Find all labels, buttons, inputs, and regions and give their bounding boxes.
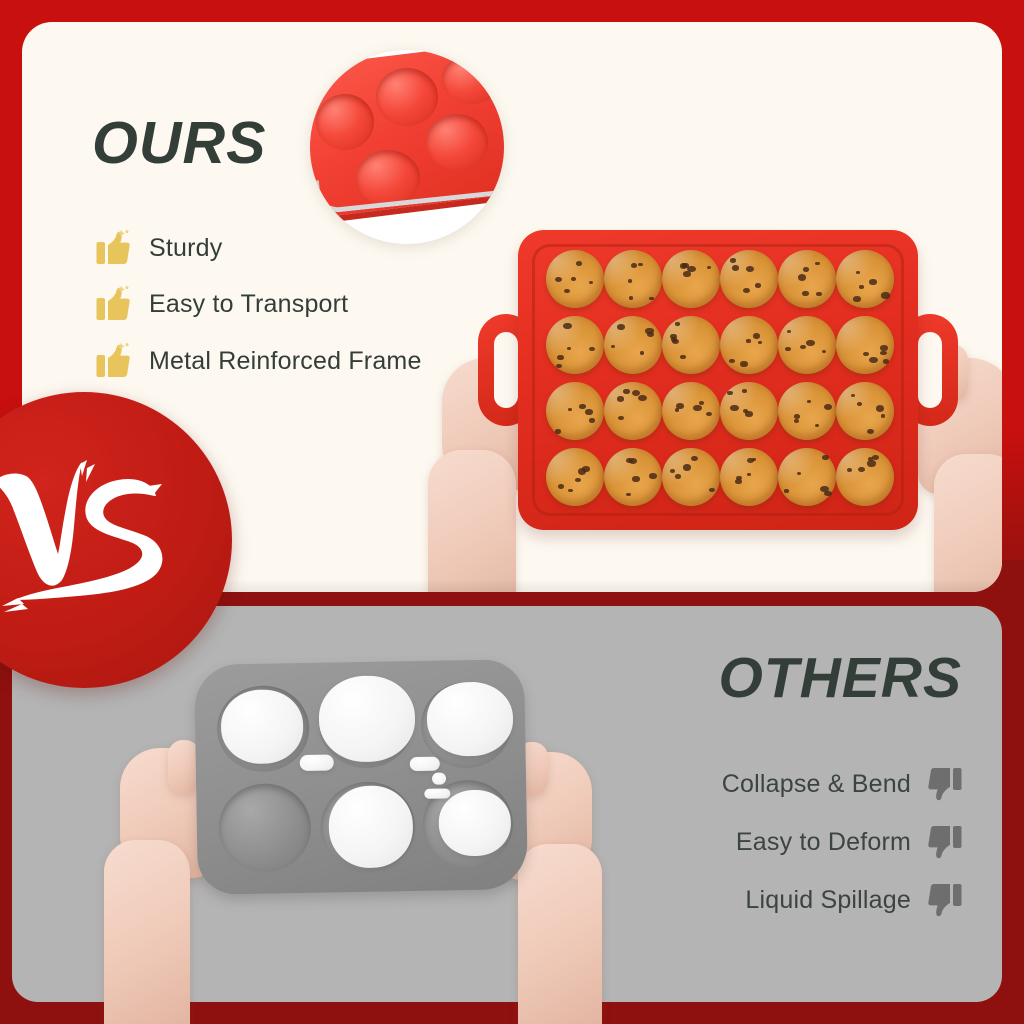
chocolate-chip — [675, 408, 679, 411]
feature-row: Metal Reinforced Frame — [96, 342, 422, 380]
chocolate-chip — [794, 414, 801, 419]
mold-body — [194, 659, 528, 895]
chocolate-chip — [571, 277, 576, 281]
muffin — [720, 382, 778, 440]
red-muffin-tray-photo — [442, 218, 1002, 592]
muffin — [604, 448, 662, 506]
chocolate-chip — [683, 271, 691, 277]
batter-blob — [318, 675, 415, 763]
forearm-left — [428, 450, 516, 592]
forearm-right — [934, 454, 1002, 592]
inset-cup — [376, 68, 438, 126]
chocolate-chip — [880, 351, 887, 356]
chocolate-chip — [758, 341, 762, 344]
chocolate-chip — [693, 405, 702, 411]
chocolate-chip — [746, 266, 754, 272]
chocolate-chip — [881, 292, 890, 299]
chocolate-chip — [822, 350, 827, 354]
feature-label: Metal Reinforced Frame — [149, 347, 422, 376]
chocolate-chip — [851, 394, 855, 397]
chocolate-chip — [867, 460, 876, 467]
chocolate-chip — [872, 455, 879, 461]
chocolate-chip — [618, 416, 624, 421]
muffin — [604, 382, 662, 440]
chocolate-chip — [798, 274, 807, 281]
drawback-label: Collapse & Bend — [722, 770, 911, 799]
chocolate-chip — [631, 263, 638, 268]
chocolate-chip — [753, 333, 761, 339]
chocolate-chip — [556, 364, 562, 369]
batter-spill — [300, 754, 334, 771]
batter-droplet — [432, 773, 446, 785]
chocolate-chip — [803, 267, 809, 272]
muffin — [546, 316, 604, 374]
chocolate-chip — [787, 330, 791, 333]
chocolate-chip — [629, 296, 634, 300]
drawback-row: Easy to Deform — [736, 823, 962, 861]
muffin — [720, 316, 778, 374]
chocolate-chip — [857, 402, 862, 406]
drawback-row: Collapse & Bend — [722, 765, 962, 803]
chocolate-chip — [797, 472, 801, 475]
muffin — [778, 382, 836, 440]
chocolate-chip — [576, 261, 583, 266]
ours-title: OURS — [92, 114, 266, 173]
chocolate-chip — [815, 424, 820, 428]
chocolate-chip — [578, 468, 587, 475]
chocolate-chip — [745, 411, 753, 417]
inset-cup — [442, 54, 500, 104]
chocolate-chip — [847, 468, 852, 472]
batter-blob — [220, 689, 303, 764]
forearm-right-gray — [518, 844, 602, 1024]
batter-blob — [426, 681, 513, 756]
chocolate-chip — [682, 263, 689, 268]
muffin — [836, 316, 894, 374]
chocolate-chip — [729, 359, 735, 363]
thumbs-up-icon — [96, 285, 130, 323]
chocolate-chip — [626, 493, 631, 497]
batter-blob — [438, 789, 511, 856]
mold-cup — [218, 783, 312, 873]
feature-row: Sturdy — [96, 229, 222, 267]
chocolate-chip — [824, 404, 832, 410]
chocolate-chip — [859, 285, 864, 289]
chocolate-chip — [807, 400, 811, 403]
chocolate-chip — [743, 288, 750, 293]
chocolate-chip — [727, 391, 733, 395]
muffin — [546, 250, 604, 308]
drawback-row: Liquid Spillage — [745, 881, 962, 919]
chocolate-chip — [575, 478, 581, 482]
chocolate-chip — [784, 489, 789, 493]
chocolate-chip — [755, 283, 761, 288]
drawback-label: Liquid Spillage — [745, 886, 911, 915]
muffin — [836, 250, 894, 308]
chocolate-chip — [800, 345, 806, 350]
batter-spill — [410, 757, 440, 772]
muffin — [662, 250, 720, 308]
chocolate-chip — [558, 484, 565, 489]
thumbs-up-icon — [96, 342, 130, 380]
chocolate-chip — [675, 322, 680, 326]
chocolate-chip — [683, 464, 691, 470]
chocolate-chip — [563, 323, 572, 329]
feature-label: Easy to Transport — [149, 290, 348, 319]
chocolate-chip — [816, 292, 821, 296]
chocolate-chip — [880, 345, 888, 351]
chocolate-chip — [747, 473, 751, 476]
muffin — [604, 316, 662, 374]
chocolate-chip — [869, 357, 878, 364]
muffin — [836, 382, 894, 440]
chocolate-chip — [706, 412, 712, 417]
thumbs-down-icon — [928, 881, 962, 919]
chocolate-chip — [742, 389, 747, 393]
chocolate-chip — [707, 266, 711, 269]
chocolate-chip — [881, 414, 886, 418]
infographic-canvas: OURS Sturdy Ea — [0, 0, 1024, 1024]
chocolate-chip — [640, 351, 645, 355]
chocolate-chip — [589, 281, 593, 284]
muffin — [720, 250, 778, 308]
chocolate-chip — [709, 488, 715, 492]
chocolate-chip — [638, 263, 643, 267]
chocolate-chip — [730, 258, 736, 263]
chocolate-chip — [883, 359, 889, 364]
thumbs-down-icon — [928, 823, 962, 861]
muffin — [778, 250, 836, 308]
chocolate-chip — [649, 473, 657, 479]
muffin — [836, 448, 894, 506]
chocolate-chip — [853, 296, 861, 302]
chocolate-chip — [568, 489, 573, 493]
chocolate-chip — [740, 361, 748, 367]
chocolate-chip — [822, 455, 829, 460]
inset-cup — [426, 114, 488, 170]
chocolate-chip — [617, 396, 624, 402]
muffin — [662, 316, 720, 374]
muffin — [546, 448, 604, 506]
chocolate-chip — [730, 405, 739, 411]
chocolate-chip — [680, 355, 685, 359]
chocolate-chip — [585, 409, 593, 415]
gray-mold-photo — [120, 640, 590, 1024]
chocolate-chip — [867, 429, 875, 435]
chocolate-chip — [568, 408, 572, 411]
tray-closeup-inset — [310, 50, 504, 244]
muffin — [604, 250, 662, 308]
muffin — [662, 448, 720, 506]
muffin — [778, 448, 836, 506]
drawback-label: Easy to Deform — [736, 828, 911, 857]
chocolate-chip — [869, 279, 877, 285]
chocolate-chip — [555, 429, 561, 434]
chocolate-chip — [794, 419, 800, 423]
chocolate-chip — [746, 339, 751, 342]
chocolate-chip — [732, 265, 739, 270]
chocolate-chip — [617, 324, 625, 330]
vs-brush-icon — [0, 458, 178, 628]
chocolate-chip — [806, 340, 815, 346]
muffin — [662, 382, 720, 440]
inset-cup — [316, 94, 374, 150]
chocolate-chip — [589, 347, 595, 352]
chocolate-chip — [876, 405, 885, 412]
chocolate-chip — [611, 345, 615, 348]
chocolate-chip — [555, 277, 562, 283]
chocolate-chip — [785, 347, 791, 351]
chocolate-chip — [699, 401, 704, 405]
batter-droplet — [424, 788, 450, 798]
chocolate-chip — [645, 328, 653, 334]
muffin — [546, 382, 604, 440]
chocolate-chip — [628, 279, 633, 283]
chocolate-chip — [858, 467, 865, 472]
thumbs-down-icon — [928, 765, 962, 803]
muffin — [720, 448, 778, 506]
chocolate-chip — [802, 291, 809, 296]
chocolate-chip — [820, 486, 829, 493]
tray-body — [518, 230, 918, 530]
chocolate-chip — [649, 297, 653, 300]
chocolate-chip — [691, 456, 698, 461]
chocolate-chip — [629, 458, 637, 464]
thumbs-up-icon — [96, 229, 130, 267]
chocolate-chip — [589, 418, 595, 423]
feature-label: Sturdy — [149, 234, 222, 263]
chocolate-chip — [735, 479, 742, 484]
chocolate-chip — [632, 476, 640, 482]
chocolate-chip — [856, 271, 860, 274]
chocolate-chip — [557, 355, 563, 360]
chocolate-chip — [815, 262, 820, 266]
muffin — [778, 316, 836, 374]
chocolate-chip — [863, 352, 869, 357]
feature-row: Easy to Transport — [96, 285, 348, 323]
chocolate-chip — [564, 289, 570, 294]
chocolate-chip — [672, 339, 679, 344]
batter-blob — [328, 785, 413, 868]
chocolate-chip — [670, 469, 675, 473]
chocolate-chip — [638, 395, 647, 402]
chocolate-chip — [675, 474, 681, 479]
chocolate-chip — [567, 347, 571, 350]
chocolate-chip — [623, 389, 630, 394]
chocolate-chip — [752, 458, 756, 461]
forearm-left-gray — [104, 840, 190, 1024]
others-title: OTHERS — [718, 650, 962, 707]
